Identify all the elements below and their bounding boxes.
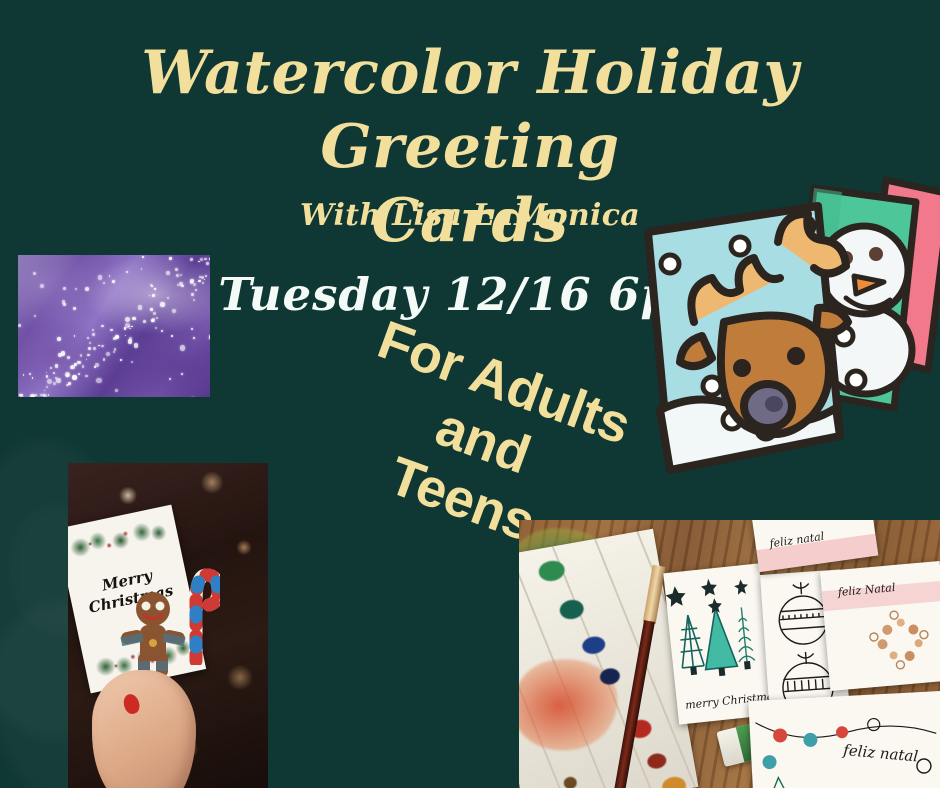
holiday-cards-illustration xyxy=(628,158,940,494)
ornament-string-artwork xyxy=(748,691,940,788)
purple-galaxy-painting xyxy=(18,255,210,397)
gingerbread-man-ornament xyxy=(120,591,186,677)
watercolor-supplies-photo: merry Christmas feliz natal xyxy=(519,520,940,788)
hand xyxy=(92,670,196,788)
candy-cane xyxy=(186,561,220,665)
wreath-dots-artwork xyxy=(820,561,940,691)
merry-christmas-card-photo: Merry Christmas xyxy=(68,463,268,788)
event-poster: Watercolor Holiday Greeting Cards With L… xyxy=(0,0,940,788)
feliz-natal-card-bottom: feliz natal xyxy=(748,691,940,788)
feliz-natal-card-right: feliz Natal xyxy=(820,561,940,691)
front-card-reindeer xyxy=(648,206,865,470)
star-speckles xyxy=(18,255,210,397)
